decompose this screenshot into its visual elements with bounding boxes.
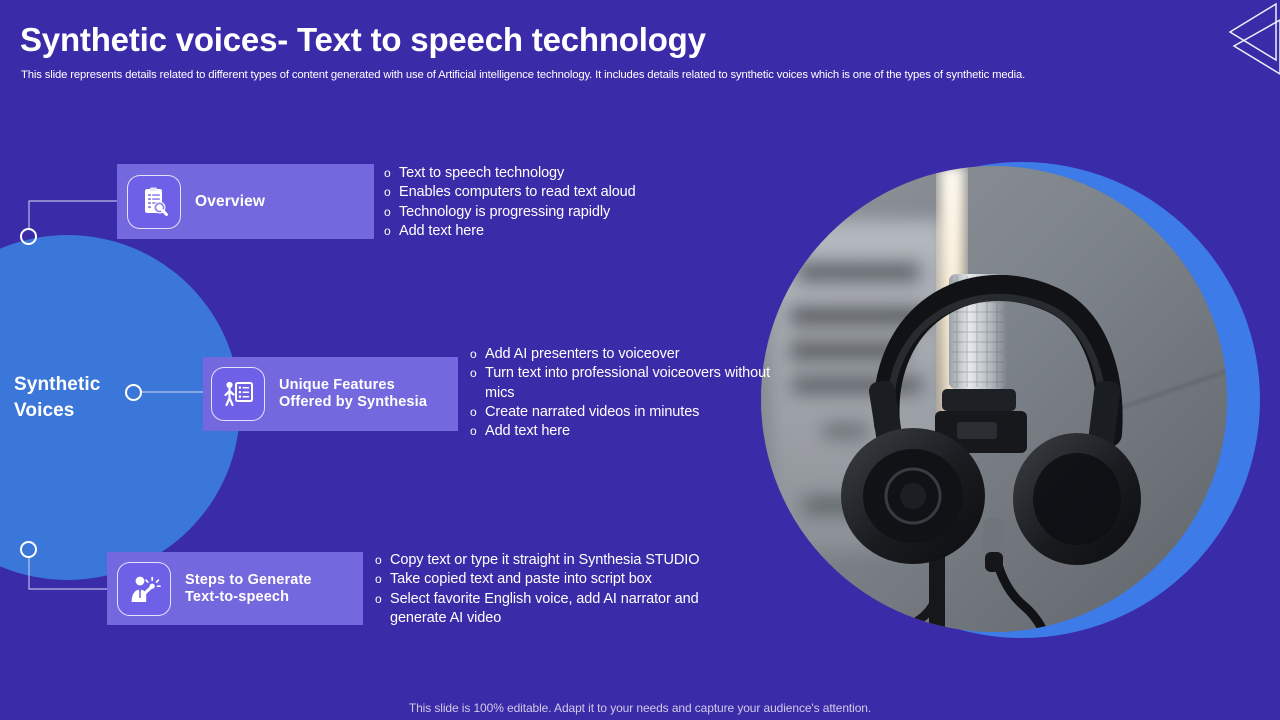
node-marker-overview[interactable] [20, 228, 37, 245]
list-item: o Select favorite English voice, add AI … [375, 590, 755, 629]
bullet-text: Select favorite English voice, add AI na… [390, 590, 755, 629]
bullet-marker: o [375, 570, 390, 589]
bullet-marker: o [375, 551, 390, 570]
bullet-text: Turn text into professional voiceovers w… [485, 364, 770, 403]
bullet-text: Add AI presenters to voiceover [485, 345, 770, 364]
list-item: o Add text here [470, 422, 770, 441]
bullet-text: Enables computers to read text aloud [399, 183, 714, 202]
slide-canvas: Synthetic voices- Text to speech technol… [0, 0, 1280, 720]
bullet-text: Add text here [485, 422, 770, 441]
bullet-marker: o [384, 222, 399, 241]
photo-circle [761, 166, 1227, 632]
list-item: o Copy text or type it straight in Synth… [375, 551, 755, 570]
list-item: o Technology is progressing rapidly [384, 203, 714, 222]
card-unique-features[interactable]: Unique Features Offered by Synthesia [203, 357, 458, 431]
bullet-marker: o [375, 590, 390, 609]
person-idea-icon [117, 562, 171, 616]
bullet-text: Take copied text and paste into script b… [390, 570, 755, 589]
card-overview[interactable]: Overview [117, 164, 374, 239]
card-unique-features-label: Unique Features Offered by Synthesia [279, 377, 427, 411]
card-unique-features-label-line2: Offered by Synthesia [279, 394, 427, 411]
bullet-text: Create narrated videos in minutes [485, 403, 770, 422]
bullet-marker: o [470, 364, 485, 383]
card-steps-label-line1: Steps to Generate [185, 572, 312, 589]
page-subtitle: This slide represents details related to… [21, 69, 1025, 81]
bullet-text: Copy text or type it straight in Synthes… [390, 551, 755, 570]
bullet-marker: o [384, 164, 399, 183]
list-item: o Text to speech technology [384, 164, 714, 183]
hub-label: Synthetic Voices [14, 372, 100, 424]
microphone-headphones-photo [761, 166, 1227, 632]
bullet-marker: o [470, 422, 485, 441]
list-item: o Create narrated videos in minutes [470, 403, 770, 422]
list-item: o Add text here [384, 222, 714, 241]
footer-note: This slide is 100% editable. Adapt it to… [0, 701, 1280, 715]
node-marker-unique-features[interactable] [125, 384, 142, 401]
bullet-marker: o [470, 403, 485, 422]
card-unique-features-label-line1: Unique Features [279, 377, 427, 394]
bullet-list-unique-features: o Add AI presenters to voiceover o Turn … [470, 345, 770, 441]
list-item: o Turn text into professional voiceovers… [470, 364, 770, 403]
card-steps-to-generate[interactable]: Steps to Generate Text-to-speech [107, 552, 363, 625]
list-item: o Enables computers to read text aloud [384, 183, 714, 202]
card-overview-label-line1: Overview [195, 193, 265, 210]
bullet-marker: o [384, 203, 399, 222]
bullet-text: Text to speech technology [399, 164, 714, 183]
list-item: o Take copied text and paste into script… [375, 570, 755, 589]
bullet-marker: o [470, 345, 485, 364]
corner-triangles-icon [1200, 0, 1280, 78]
card-steps-label-line2: Text-to-speech [185, 589, 312, 606]
bullet-text: Add text here [399, 222, 714, 241]
hub-label-line2: Voices [14, 398, 100, 424]
node-marker-steps[interactable] [20, 541, 37, 558]
card-overview-label: Overview [195, 193, 265, 210]
page-title: Synthetic voices- Text to speech technol… [20, 21, 706, 59]
card-steps-label: Steps to Generate Text-to-speech [185, 572, 312, 606]
hub-label-line1: Synthetic [14, 372, 100, 398]
presenter-board-icon [211, 367, 265, 421]
connector-overview [29, 201, 124, 228]
bullet-list-overview: o Text to speech technology o Enables co… [384, 164, 714, 241]
list-item: o Add AI presenters to voiceover [470, 345, 770, 364]
document-search-icon [127, 175, 181, 229]
bullet-list-steps: o Copy text or type it straight in Synth… [375, 551, 755, 628]
bullet-marker: o [384, 183, 399, 202]
bullet-text: Technology is progressing rapidly [399, 203, 714, 222]
